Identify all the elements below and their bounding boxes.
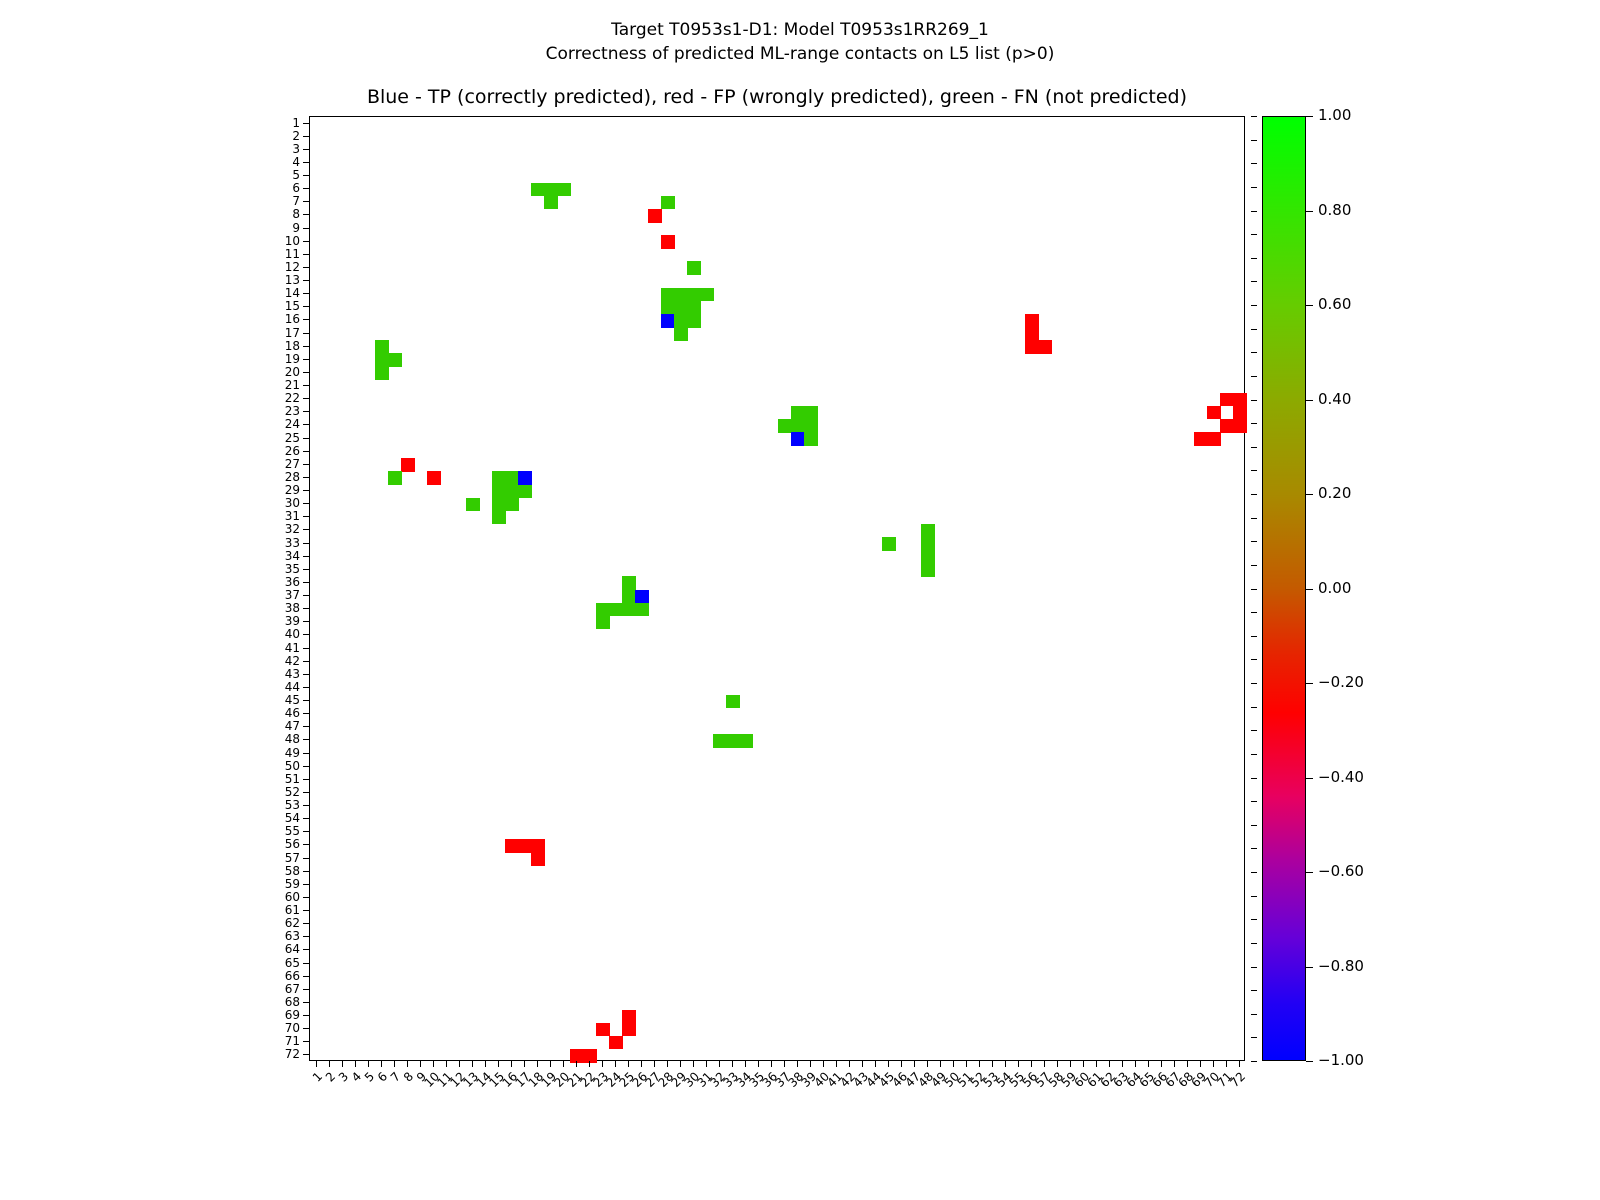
x-tick-mark — [745, 1061, 746, 1067]
y-tick-label: 3 — [240, 143, 300, 155]
heatmap-cells — [310, 117, 1244, 1060]
y-tick-mark — [303, 372, 309, 373]
y-tick-mark — [303, 726, 309, 727]
heatmap-cell-tp — [518, 471, 532, 485]
y-tick-label: 22 — [240, 392, 300, 404]
y-tick-mark — [303, 1041, 309, 1042]
y-tick-label: 56 — [240, 838, 300, 850]
heatmap-cell-fp — [622, 1023, 636, 1037]
heatmap-cell-fn — [622, 590, 636, 604]
x-tick-mark — [940, 1061, 941, 1067]
y-tick-mark — [303, 477, 309, 478]
heatmap-cell-fn — [505, 498, 519, 512]
heatmap-cell-fn — [492, 485, 506, 499]
x-tick-mark — [706, 1061, 707, 1067]
y-tick-label: 8 — [240, 208, 300, 220]
x-tick-mark — [381, 1061, 382, 1067]
y-tick-label: 21 — [240, 379, 300, 391]
x-tick-mark — [459, 1061, 460, 1067]
colorbar-minor-tick — [1251, 754, 1257, 755]
colorbar-minor-tick — [1251, 494, 1257, 495]
heatmap-cell-fp — [1233, 406, 1247, 420]
heatmap-cell-fn — [687, 314, 701, 328]
heatmap-cell-tp — [791, 432, 805, 446]
x-tick-mark — [1213, 1061, 1214, 1067]
y-tick-mark — [303, 149, 309, 150]
heatmap-cell-fn — [375, 340, 389, 354]
colorbar-minor-tick — [1251, 140, 1257, 141]
x-tick-mark — [1239, 1061, 1240, 1067]
x-tick-mark — [368, 1061, 369, 1067]
y-tick-label: 58 — [240, 865, 300, 877]
y-tick-mark — [303, 884, 309, 885]
colorbar-tick-mark — [1306, 400, 1313, 401]
colorbar-minor-tick — [1251, 636, 1257, 637]
heatmap-cell-fn — [557, 183, 571, 197]
axes-title: Blue - TP (correctly predicted), red - F… — [309, 86, 1245, 108]
figure-suptitle: Target T0953s1-D1: Model T0953s1RR269_1 … — [0, 18, 1600, 66]
x-tick-mark — [1096, 1061, 1097, 1067]
y-tick-mark — [303, 359, 309, 360]
x-tick-mark — [953, 1061, 954, 1067]
x-tick-mark — [1200, 1061, 1201, 1067]
x-tick-mark — [1135, 1061, 1136, 1067]
heatmap-cell-fn — [921, 537, 935, 551]
heatmap-cell-fn — [726, 695, 740, 709]
y-tick-mark — [303, 844, 309, 845]
y-tick-label: 14 — [240, 287, 300, 299]
colorbar-minor-tick — [1251, 589, 1257, 590]
y-tick-mark — [303, 267, 309, 268]
y-tick-mark — [303, 516, 309, 517]
y-tick-mark — [303, 963, 309, 964]
x-tick-mark — [810, 1061, 811, 1067]
x-tick-mark — [888, 1061, 889, 1067]
y-tick-mark — [303, 805, 309, 806]
heatmap-cell-fp — [1025, 327, 1039, 341]
heatmap-cell-fn — [921, 550, 935, 564]
heatmap-cell-fn — [518, 485, 532, 499]
y-tick-label: 70 — [240, 1022, 300, 1034]
x-tick-mark — [849, 1061, 850, 1067]
y-tick-mark — [303, 648, 309, 649]
colorbar-minor-tick — [1251, 258, 1257, 259]
y-tick-label: 30 — [240, 497, 300, 509]
y-tick-mark — [303, 385, 309, 386]
contact-map-plot[interactable] — [309, 116, 1245, 1061]
x-tick-mark — [524, 1061, 525, 1067]
heatmap-cell-fp — [661, 235, 675, 249]
heatmap-cell-fp — [401, 458, 415, 472]
y-tick-label: 23 — [240, 405, 300, 417]
y-tick-mark — [303, 490, 309, 491]
colorbar-minor-tick — [1251, 163, 1257, 164]
heatmap-cell-fp — [531, 839, 545, 853]
y-tick-mark — [303, 1002, 309, 1003]
x-tick-mark — [966, 1061, 967, 1067]
heatmap-cell-fn — [921, 563, 935, 577]
heatmap-cell-fn — [687, 261, 701, 275]
colorbar-minor-tick — [1251, 730, 1257, 731]
heatmap-cell-tp — [661, 314, 675, 328]
heatmap-cell-fn — [791, 419, 805, 433]
heatmap-cell-fn — [622, 576, 636, 590]
y-tick-label: 48 — [240, 733, 300, 745]
y-tick-label: 12 — [240, 261, 300, 273]
y-tick-label: 66 — [240, 970, 300, 982]
x-tick-mark — [1109, 1061, 1110, 1067]
colorbar-minor-tick — [1251, 116, 1257, 117]
colorbar-tick-label: −0.40 — [1318, 770, 1364, 785]
colorbar-minor-tick — [1251, 305, 1257, 306]
heatmap-cell-fp — [1194, 432, 1208, 446]
heatmap-cell-fp — [622, 1010, 636, 1024]
colorbar-tick-label: −1.00 — [1318, 1053, 1364, 1068]
colorbar-tick-label: 0.40 — [1318, 392, 1351, 407]
x-tick-mark — [667, 1061, 668, 1067]
heatmap-cell-fn — [778, 419, 792, 433]
y-tick-label: 34 — [240, 550, 300, 562]
x-tick-mark — [1070, 1061, 1071, 1067]
y-tick-label: 49 — [240, 747, 300, 759]
heatmap-cell-fn — [375, 366, 389, 380]
y-tick-mark — [303, 621, 309, 622]
y-tick-label: 69 — [240, 1009, 300, 1021]
x-tick-mark — [576, 1061, 577, 1067]
y-tick-label: 53 — [240, 799, 300, 811]
x-tick-mark — [862, 1061, 863, 1067]
y-tick-label: 13 — [240, 274, 300, 286]
x-tick-mark — [732, 1061, 733, 1067]
x-tick-mark — [472, 1061, 473, 1067]
x-tick-mark — [1083, 1061, 1084, 1067]
x-tick-mark — [680, 1061, 681, 1067]
x-tick-mark — [407, 1061, 408, 1067]
y-tick-label: 1 — [240, 117, 300, 129]
heatmap-cell-fn — [661, 301, 675, 315]
y-tick-mark — [303, 175, 309, 176]
y-tick-mark — [303, 503, 309, 504]
colorbar-minor-tick — [1251, 423, 1257, 424]
heatmap-cell-fn — [921, 524, 935, 538]
x-tick-mark — [654, 1061, 655, 1067]
y-tick-label: 44 — [240, 681, 300, 693]
colorbar-minor-tick — [1251, 234, 1257, 235]
y-tick-label: 59 — [240, 878, 300, 890]
heatmap-cell-fp — [427, 471, 441, 485]
x-tick-mark — [446, 1061, 447, 1067]
colorbar-minor-tick — [1251, 825, 1257, 826]
heatmap-cell-fn — [531, 183, 545, 197]
x-tick-mark — [784, 1061, 785, 1067]
y-tick-label: 27 — [240, 458, 300, 470]
heatmap-cell-fn — [375, 353, 389, 367]
colorbar-minor-tick — [1251, 896, 1257, 897]
heatmap-cell-fn — [804, 432, 818, 446]
x-tick-mark — [329, 1061, 330, 1067]
heatmap-cell-fn — [882, 537, 896, 551]
heatmap-cell-fp — [1038, 340, 1052, 354]
colorbar-tick-label: 0.60 — [1318, 297, 1351, 312]
colorbar-minor-tick — [1251, 990, 1257, 991]
heatmap-cell-fp — [1220, 393, 1234, 407]
colorbar-tick-mark — [1306, 1061, 1313, 1062]
colorbar-minor-tick — [1251, 848, 1257, 849]
heatmap-cell-fn — [505, 485, 519, 499]
y-tick-label: 33 — [240, 537, 300, 549]
y-tick-label: 50 — [240, 760, 300, 772]
heatmap-cell-fn — [687, 288, 701, 302]
colorbar-minor-tick — [1251, 1061, 1257, 1062]
colorbar-minor-tick — [1251, 1037, 1257, 1038]
colorbar-tick-mark — [1306, 494, 1313, 495]
heatmap-cell-fn — [674, 327, 688, 341]
heatmap-cell-fn — [674, 314, 688, 328]
colorbar-tick-mark — [1306, 116, 1313, 117]
x-tick-mark — [589, 1061, 590, 1067]
y-tick-label: 61 — [240, 904, 300, 916]
heatmap-cell-fn — [726, 734, 740, 748]
x-tick-mark — [992, 1061, 993, 1067]
heatmap-cell-fn — [674, 288, 688, 302]
y-tick-label: 2 — [240, 130, 300, 142]
colorbar-minor-tick — [1251, 943, 1257, 944]
heatmap-cell-fn — [739, 734, 753, 748]
x-tick-mark — [563, 1061, 564, 1067]
colorbar-tick-mark — [1306, 683, 1313, 684]
y-tick-mark — [303, 398, 309, 399]
colorbar-minor-tick — [1251, 967, 1257, 968]
y-tick-label: 24 — [240, 418, 300, 430]
colorbar-tick-label: 1.00 — [1318, 108, 1351, 123]
colorbar-minor-tick — [1251, 352, 1257, 353]
colorbar-minor-tick — [1251, 565, 1257, 566]
heatmap-cell-fp — [518, 839, 532, 853]
x-tick-mark — [628, 1061, 629, 1067]
y-tick-mark — [303, 910, 309, 911]
colorbar-minor-tick — [1251, 872, 1257, 873]
heatmap-cell-fp — [1025, 314, 1039, 328]
y-tick-mark — [303, 333, 309, 334]
x-tick-mark — [420, 1061, 421, 1067]
y-tick-mark — [303, 897, 309, 898]
heatmap-cell-fn — [791, 406, 805, 420]
y-tick-label: 42 — [240, 655, 300, 667]
x-tick-mark — [394, 1061, 395, 1067]
y-tick-mark — [303, 228, 309, 229]
x-tick-mark — [433, 1061, 434, 1067]
y-tick-label: 52 — [240, 786, 300, 798]
y-tick-label: 32 — [240, 523, 300, 535]
y-tick-mark — [303, 438, 309, 439]
y-tick-label: 7 — [240, 195, 300, 207]
y-tick-label: 10 — [240, 235, 300, 247]
y-tick-mark — [303, 871, 309, 872]
colorbar-minor-tick — [1251, 612, 1257, 613]
x-tick-mark — [1148, 1061, 1149, 1067]
x-tick-mark — [615, 1061, 616, 1067]
y-tick-label: 45 — [240, 694, 300, 706]
heatmap-cell-fn — [492, 471, 506, 485]
x-tick-mark — [1018, 1061, 1019, 1067]
heatmap-cell-fp — [609, 1036, 623, 1050]
x-tick-mark — [875, 1061, 876, 1067]
x-tick-mark — [602, 1061, 603, 1067]
heatmap-cell-fp — [1233, 393, 1247, 407]
y-tick-label: 68 — [240, 996, 300, 1008]
x-tick-mark — [823, 1061, 824, 1067]
heatmap-cell-fn — [388, 471, 402, 485]
x-tick-mark — [758, 1061, 759, 1067]
colorbar-minor-tick — [1251, 281, 1257, 282]
heatmap-cell-fp — [596, 1023, 610, 1037]
x-tick-mark — [1174, 1061, 1175, 1067]
colorbar-minor-tick — [1251, 400, 1257, 401]
x-tick-mark — [498, 1061, 499, 1067]
y-tick-label: 35 — [240, 563, 300, 575]
colorbar-gradient — [1262, 116, 1306, 1061]
y-tick-label: 25 — [240, 432, 300, 444]
y-tick-label: 37 — [240, 589, 300, 601]
y-tick-label: 38 — [240, 602, 300, 614]
y-tick-mark — [303, 949, 309, 950]
y-tick-label: 55 — [240, 825, 300, 837]
x-tick-mark — [537, 1061, 538, 1067]
x-tick-mark — [1161, 1061, 1162, 1067]
x-tick-mark — [719, 1061, 720, 1067]
y-tick-mark — [303, 123, 309, 124]
y-tick-label: 18 — [240, 340, 300, 352]
x-tick-mark — [1226, 1061, 1227, 1067]
y-tick-label: 47 — [240, 720, 300, 732]
colorbar-minor-tick — [1251, 919, 1257, 920]
y-tick-mark — [303, 280, 309, 281]
y-tick-mark — [303, 818, 309, 819]
y-tick-mark — [303, 713, 309, 714]
y-tick-mark — [303, 201, 309, 202]
y-tick-label: 65 — [240, 957, 300, 969]
y-tick-mark — [303, 831, 309, 832]
y-tick-mark — [303, 464, 309, 465]
y-tick-label: 54 — [240, 812, 300, 824]
y-tick-label: 28 — [240, 471, 300, 483]
y-tick-mark — [303, 424, 309, 425]
y-tick-mark — [303, 779, 309, 780]
colorbar-minor-tick — [1251, 447, 1257, 448]
heatmap-cell-fp — [1233, 419, 1247, 433]
heatmap-cell-tp — [635, 590, 649, 604]
x-tick-mark — [511, 1061, 512, 1067]
heatmap-cell-fn — [544, 196, 558, 210]
y-tick-mark — [303, 451, 309, 452]
x-tick-mark — [1005, 1061, 1006, 1067]
y-tick-label: 4 — [240, 156, 300, 168]
heatmap-cell-fn — [596, 603, 610, 617]
colorbar-tick-label: 0.80 — [1318, 203, 1351, 218]
y-tick-label: 20 — [240, 366, 300, 378]
y-tick-mark — [303, 700, 309, 701]
x-tick-mark — [485, 1061, 486, 1067]
y-tick-mark — [303, 792, 309, 793]
colorbar-tick-label: 0.20 — [1318, 486, 1351, 501]
heatmap-cell-fn — [388, 353, 402, 367]
heatmap-cell-fn — [609, 603, 623, 617]
y-tick-mark — [303, 595, 309, 596]
y-tick-mark — [303, 739, 309, 740]
heatmap-cell-fn — [661, 288, 675, 302]
colorbar-tick-mark — [1306, 778, 1313, 779]
colorbar-minor-tick — [1251, 1014, 1257, 1015]
heatmap-cell-fp — [505, 839, 519, 853]
y-tick-label: 63 — [240, 930, 300, 942]
colorbar-tick-label: 0.00 — [1318, 581, 1351, 596]
y-tick-mark — [303, 674, 309, 675]
y-tick-mark — [303, 753, 309, 754]
y-tick-label: 11 — [240, 248, 300, 260]
y-tick-mark — [303, 582, 309, 583]
y-tick-label: 43 — [240, 668, 300, 680]
heatmap-cell-fn — [674, 301, 688, 315]
y-tick-mark — [303, 556, 309, 557]
heatmap-cell-fn — [804, 419, 818, 433]
y-tick-mark — [303, 569, 309, 570]
y-tick-label: 36 — [240, 576, 300, 588]
colorbar-minor-tick — [1251, 659, 1257, 660]
x-tick-mark — [797, 1061, 798, 1067]
y-tick-mark — [303, 989, 309, 990]
y-tick-mark — [303, 858, 309, 859]
y-tick-mark — [303, 254, 309, 255]
y-tick-label: 46 — [240, 707, 300, 719]
y-tick-mark — [303, 608, 309, 609]
y-tick-mark — [303, 306, 309, 307]
y-tick-label: 15 — [240, 300, 300, 312]
colorbar-tick-mark — [1306, 967, 1313, 968]
heatmap-cell-fn — [492, 511, 506, 525]
x-tick-mark — [641, 1061, 642, 1067]
x-tick-mark — [1187, 1061, 1188, 1067]
y-tick-mark — [303, 346, 309, 347]
y-tick-mark — [303, 411, 309, 412]
colorbar-tick-mark — [1306, 211, 1313, 212]
heatmap-cell-fp — [1207, 406, 1221, 420]
y-tick-label: 19 — [240, 353, 300, 365]
x-tick-mark — [355, 1061, 356, 1067]
y-tick-label: 62 — [240, 917, 300, 929]
x-tick-mark — [1031, 1061, 1032, 1067]
x-tick-mark — [836, 1061, 837, 1067]
x-tick-mark — [1122, 1061, 1123, 1067]
heatmap-cell-fn — [661, 196, 675, 210]
y-tick-mark — [303, 136, 309, 137]
y-tick-label: 5 — [240, 169, 300, 181]
x-tick-mark — [342, 1061, 343, 1067]
figure-canvas: Target T0953s1-D1: Model T0953s1RR269_1 … — [0, 0, 1600, 1200]
heatmap-cell-fp — [531, 852, 545, 866]
y-tick-mark — [303, 543, 309, 544]
heatmap-cell-fn — [492, 498, 506, 512]
x-tick-mark — [901, 1061, 902, 1067]
heatmap-cell-fp — [1025, 340, 1039, 354]
y-tick-mark — [303, 687, 309, 688]
x-tick-mark — [550, 1061, 551, 1067]
y-tick-mark — [303, 936, 309, 937]
heatmap-cell-fn — [622, 603, 636, 617]
y-tick-label: 31 — [240, 510, 300, 522]
heatmap-cell-fn — [635, 603, 649, 617]
heatmap-cell-fn — [687, 301, 701, 315]
heatmap-cell-fn — [544, 183, 558, 197]
